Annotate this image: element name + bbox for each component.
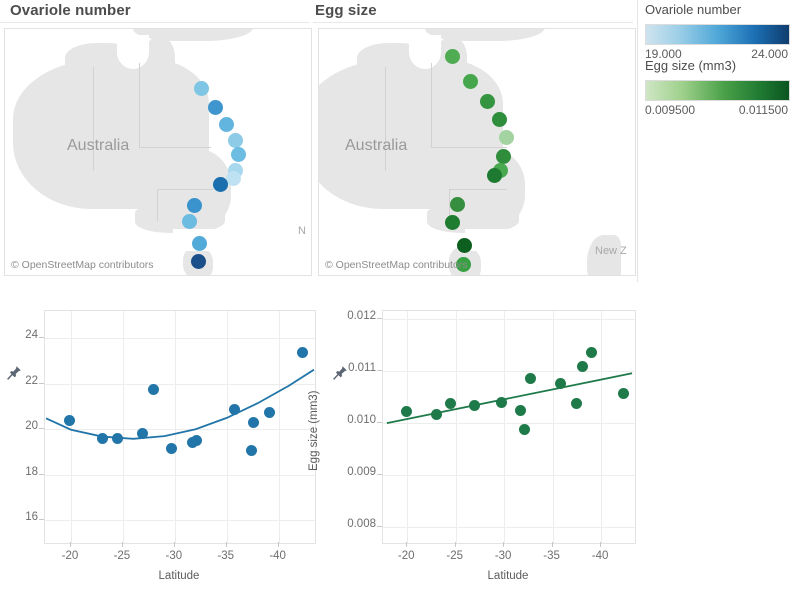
- x-tick-mark: [70, 542, 71, 547]
- x-tick-label: -25: [97, 550, 147, 562]
- x-tick-label: -40: [575, 550, 625, 562]
- map-marker[interactable]: [492, 112, 507, 127]
- state-border-sa-nsw: [431, 147, 507, 148]
- x-tick-mark: [174, 542, 175, 547]
- state-border-nsw-vic: [157, 189, 213, 190]
- map-marker[interactable]: [499, 130, 514, 145]
- sea-bass-strait: [465, 229, 529, 251]
- chart-ovariole-vs-latitude[interactable]: 1618202224-20-25-30-35-40LatitudeOvariol…: [0, 295, 320, 591]
- x-tick-mark: [455, 542, 456, 547]
- y-tick-label: 24: [0, 329, 38, 341]
- map-marker[interactable]: [231, 147, 246, 162]
- trend-line: [45, 311, 315, 543]
- map-marker[interactable]: [226, 171, 241, 186]
- state-border-nsw-vic: [449, 189, 507, 190]
- x-tick-mark: [503, 542, 504, 547]
- y-tick-mark: [377, 370, 382, 371]
- x-tick-label: -30: [149, 550, 199, 562]
- state-border-wa-nt: [385, 67, 386, 171]
- map-marker[interactable]: [445, 215, 460, 230]
- map-marker[interactable]: [487, 168, 502, 183]
- data-point[interactable]: [496, 397, 507, 408]
- y-tick-mark: [39, 383, 44, 384]
- state-border-wa-nt: [93, 67, 94, 171]
- x-tick-mark: [122, 542, 123, 547]
- dashboard-root: Ovariole number Egg size Australia N © O: [0, 0, 797, 591]
- data-point[interactable]: [519, 424, 530, 435]
- data-point[interactable]: [469, 400, 480, 411]
- y-tick-mark: [39, 337, 44, 338]
- map-marker[interactable]: [192, 236, 207, 251]
- data-point[interactable]: [586, 347, 597, 358]
- sea-gulf-carpentaria: [409, 35, 441, 69]
- x-tick-label: -20: [381, 550, 431, 562]
- map-marker[interactable]: [187, 198, 202, 213]
- chart-eggsize-vs-latitude[interactable]: 0.0080.0090.0100.0110.012-20-25-30-35-40…: [320, 295, 640, 591]
- y-tick-mark: [377, 526, 382, 527]
- landmass-cape-york: [145, 37, 175, 81]
- y-tick-label: 0.009: [320, 466, 376, 478]
- y-tick-mark: [377, 474, 382, 475]
- title-divider-left: [0, 22, 310, 23]
- map-marker[interactable]: [457, 238, 472, 253]
- map-label-australia-left: Australia: [67, 137, 129, 155]
- map-marker[interactable]: [450, 197, 465, 212]
- map-label-australia-right: Australia: [345, 137, 407, 155]
- map-marker[interactable]: [219, 117, 234, 132]
- map-canvas-left: Australia N: [5, 29, 311, 275]
- plot-area[interactable]: [382, 310, 636, 544]
- map-canvas-right: Australia New Z: [319, 29, 635, 275]
- legend-colorramp-eggsize[interactable]: [645, 80, 790, 101]
- x-tick-label: -35: [527, 550, 577, 562]
- data-point[interactable]: [229, 404, 240, 415]
- state-border-nt-qld: [139, 63, 140, 147]
- y-tick-mark: [377, 318, 382, 319]
- x-tick-mark: [406, 542, 407, 547]
- x-tick-mark: [600, 542, 601, 547]
- title-divider-right: [313, 22, 633, 23]
- y-tick-label: 20: [0, 420, 38, 432]
- y-tick-label: 0.010: [320, 414, 376, 426]
- y-tick-mark: [39, 519, 44, 520]
- map-marker[interactable]: [480, 94, 495, 109]
- map-marker[interactable]: [496, 149, 511, 164]
- data-point[interactable]: [97, 433, 108, 444]
- sea-gulf-carpentaria: [117, 35, 149, 69]
- y-tick-label: 0.011: [320, 362, 376, 374]
- map-marker[interactable]: [208, 100, 223, 115]
- data-point[interactable]: [264, 407, 275, 418]
- x-tick-mark: [278, 542, 279, 547]
- map-attribution-right[interactable]: © OpenStreetMap contributors: [325, 259, 468, 271]
- data-point[interactable]: [431, 409, 442, 420]
- y-tick-label: 18: [0, 466, 38, 478]
- map-label-neighbour-left: N: [298, 225, 306, 237]
- y-tick-label: 0.012: [320, 310, 376, 322]
- plot-area[interactable]: [44, 310, 316, 544]
- x-tick-label: -40: [253, 550, 303, 562]
- map-marker[interactable]: [191, 254, 206, 269]
- y-axis-title[interactable]: Egg size (mm3): [308, 390, 320, 471]
- map-marker[interactable]: [228, 133, 243, 148]
- map-marker[interactable]: [463, 74, 478, 89]
- page-title-eggsize: Egg size: [315, 2, 377, 19]
- x-tick-label: -20: [45, 550, 95, 562]
- legend-max-eggsize: 0.011500: [645, 103, 788, 117]
- state-border-sa-vic: [157, 189, 158, 221]
- legend-title-eggsize: Egg size (mm3): [645, 58, 736, 73]
- x-tick-mark: [226, 542, 227, 547]
- state-border-nt-qld: [431, 63, 432, 147]
- map-eggsize[interactable]: Australia New Z © OpenStreetMap contribu…: [318, 28, 636, 276]
- y-tick-mark: [377, 422, 382, 423]
- legend-colorramp-ovariole[interactable]: [645, 24, 790, 45]
- legend-title-ovariole: Ovariole number: [645, 2, 741, 17]
- map-marker[interactable]: [213, 177, 228, 192]
- x-tick-label: -25: [430, 550, 480, 562]
- map-marker[interactable]: [445, 49, 460, 64]
- data-point[interactable]: [137, 428, 148, 439]
- legend-panel-divider: [637, 0, 638, 282]
- x-axis-title[interactable]: Latitude: [382, 570, 634, 582]
- page-title-ovariole: Ovariole number: [10, 2, 131, 19]
- map-marker[interactable]: [194, 81, 209, 96]
- trend-line: [383, 311, 635, 543]
- y-tick-label: 16: [0, 511, 38, 523]
- map-label-neighbour-right: New Z: [595, 245, 627, 257]
- map-attribution-left[interactable]: © OpenStreetMap contributors: [11, 259, 154, 271]
- x-axis-title[interactable]: Latitude: [44, 570, 314, 582]
- y-tick-label: 0.008: [320, 518, 376, 530]
- data-point[interactable]: [148, 384, 159, 395]
- y-tick-mark: [39, 428, 44, 429]
- x-tick-label: -35: [201, 550, 251, 562]
- y-tick-label: 22: [0, 375, 38, 387]
- data-point[interactable]: [525, 373, 536, 384]
- y-tick-mark: [39, 474, 44, 475]
- x-tick-mark: [552, 542, 553, 547]
- x-tick-label: -30: [478, 550, 528, 562]
- map-ovariole[interactable]: Australia N © OpenStreetMap contributors: [4, 28, 312, 276]
- data-point[interactable]: [515, 405, 526, 416]
- state-border-sa-nsw: [139, 147, 211, 148]
- map-marker[interactable]: [182, 214, 197, 229]
